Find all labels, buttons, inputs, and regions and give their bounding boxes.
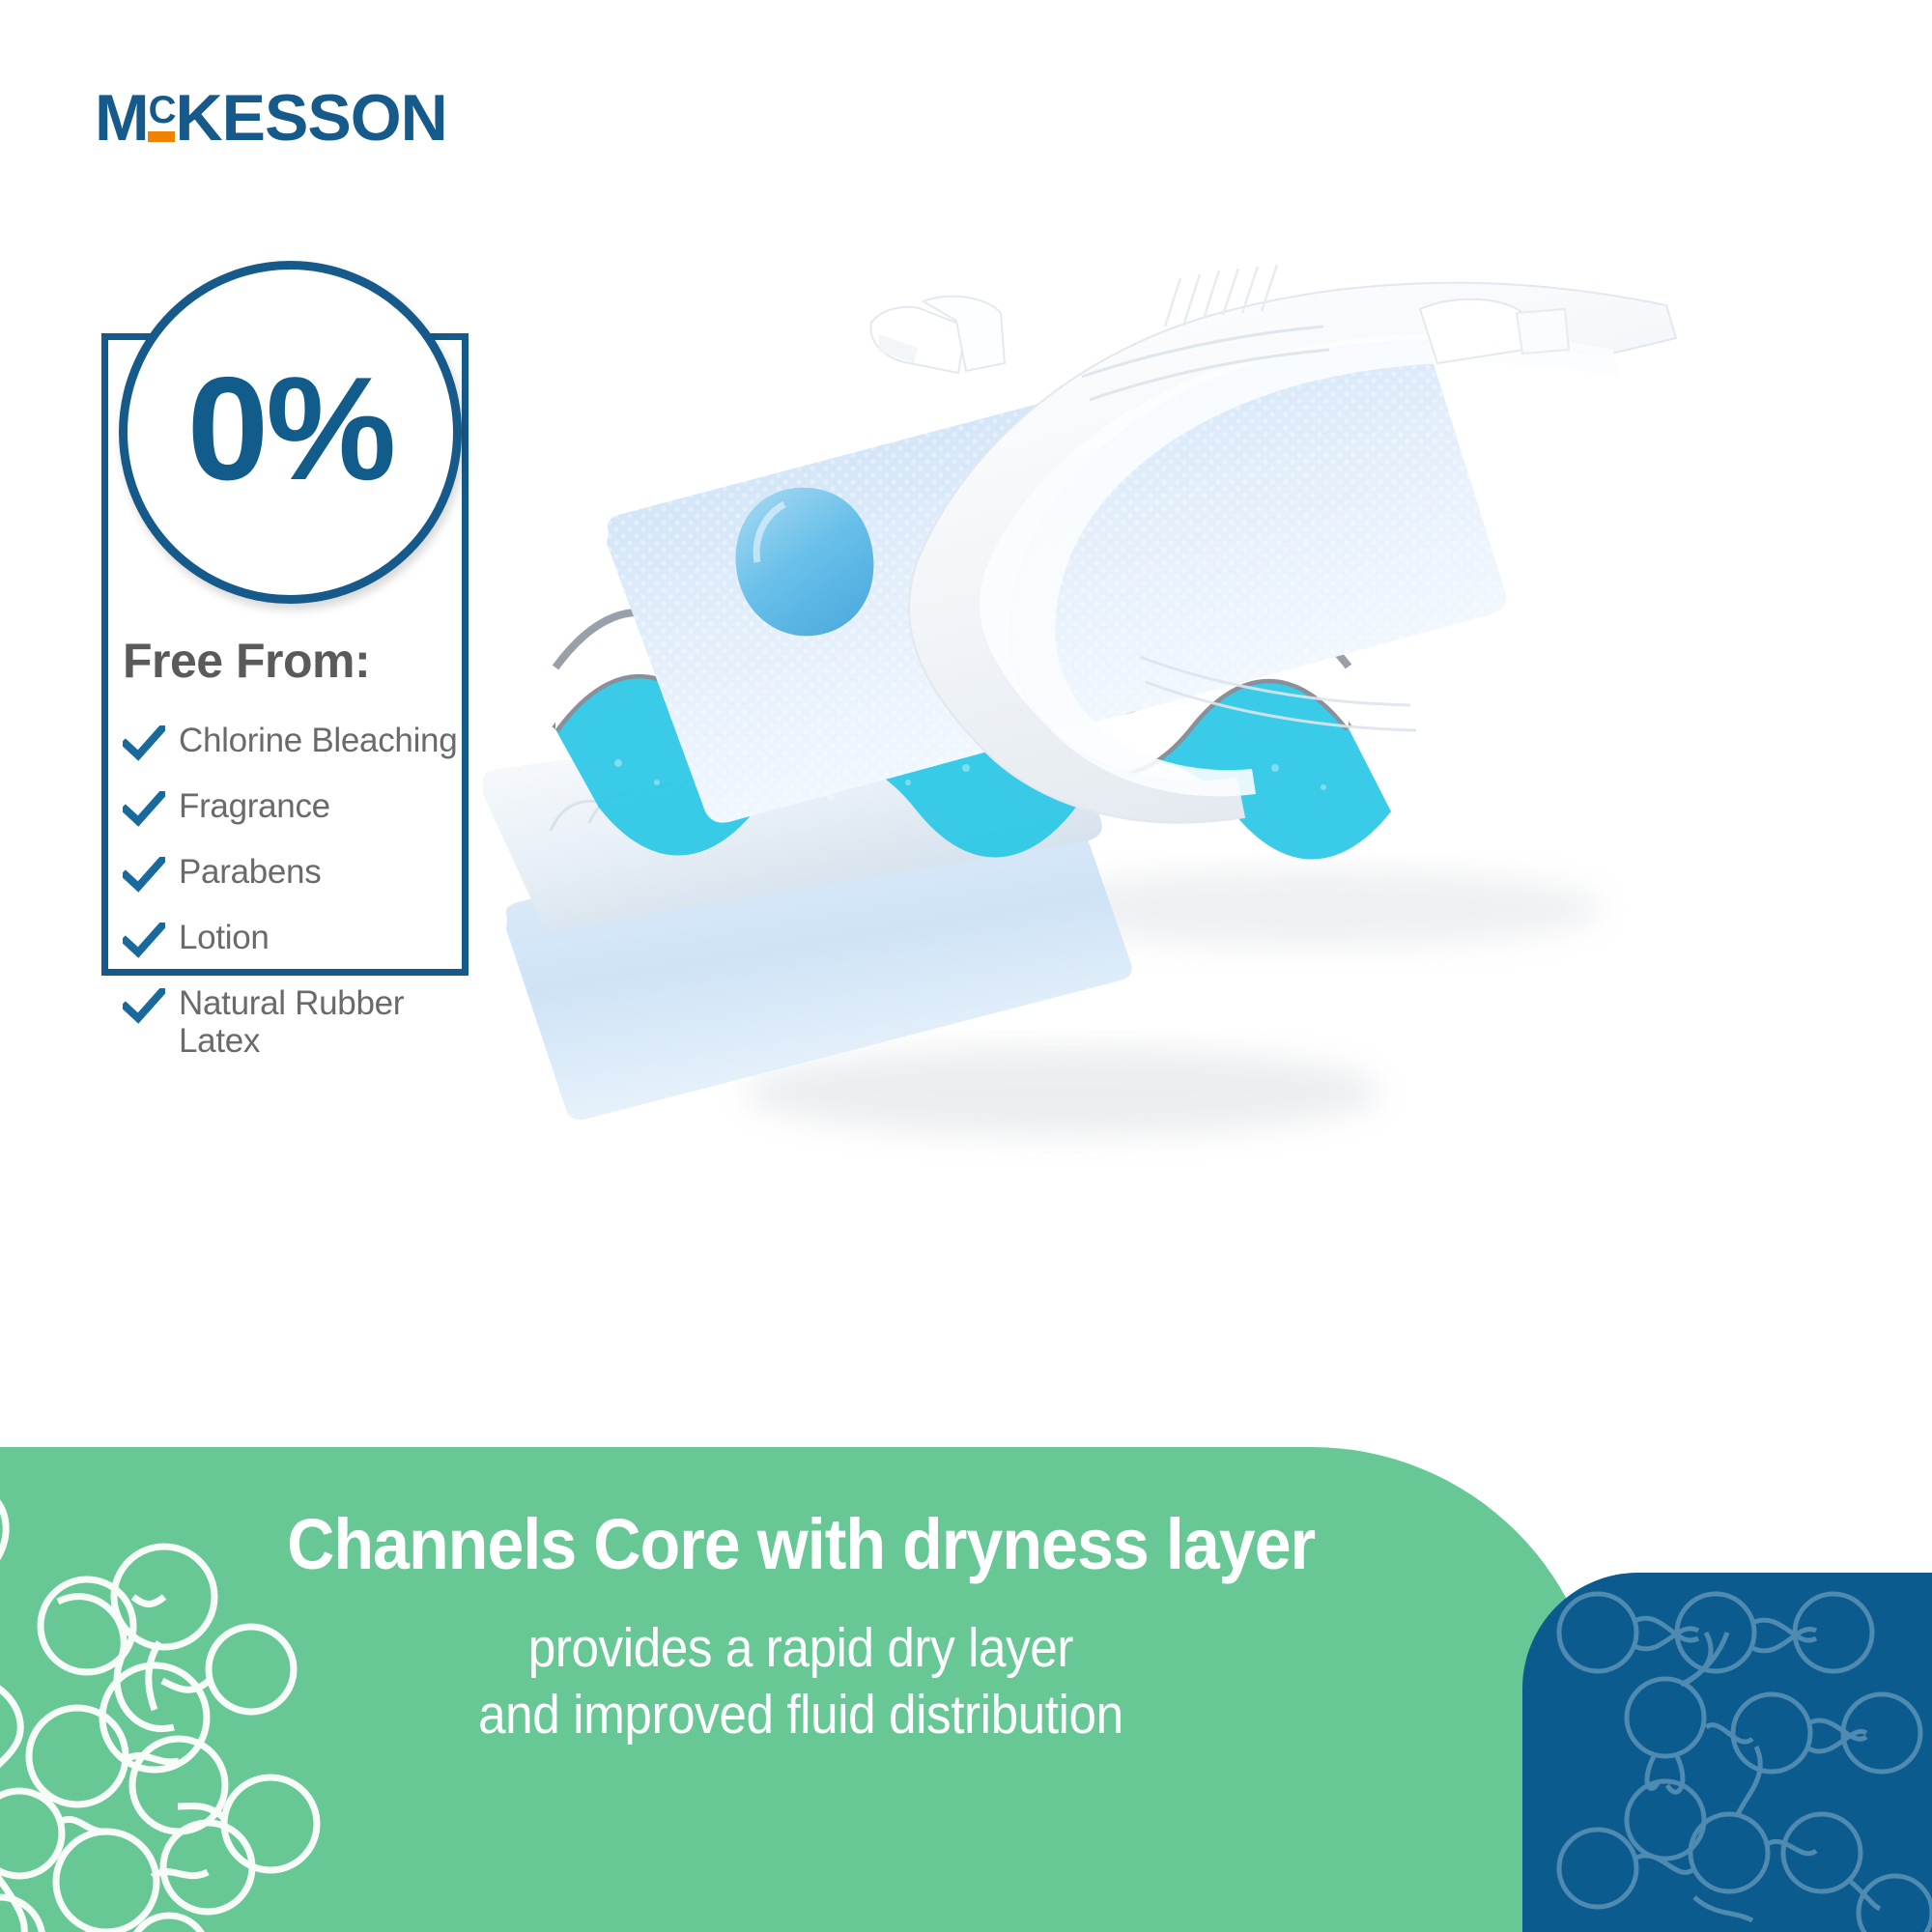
- list-item: Parabens: [123, 853, 469, 894]
- product-hero-image: [464, 241, 1884, 1188]
- free-from-claim-panel: 0% Free From: Chlorine Bleaching Fragran…: [101, 261, 469, 976]
- free-from-list-container: Free From: Chlorine Bleaching Fragrance …: [101, 633, 469, 1085]
- list-item-label: Lotion: [179, 919, 270, 956]
- list-item-label: Chlorine Bleaching: [179, 722, 457, 759]
- list-item: Lotion: [123, 919, 469, 959]
- mckesson-logo: MCKESSON: [95, 85, 447, 151]
- organic-blob-pattern: [0, 1447, 502, 1932]
- list-item-label: Natural Rubber Latex: [179, 984, 469, 1060]
- check-icon: [123, 722, 179, 762]
- zero-percent-badge: 0%: [119, 261, 462, 604]
- logo-text-part1: M: [95, 81, 149, 155]
- list-item: Natural Rubber Latex: [123, 984, 469, 1060]
- molecule-dumbbell-pattern: [1522, 1573, 1932, 1932]
- logo-text-part2: KESSON: [176, 81, 447, 155]
- check-icon: [123, 853, 179, 894]
- list-item-label: Fragrance: [179, 787, 330, 825]
- list-item-label: Parabens: [179, 853, 321, 891]
- check-icon: [123, 984, 179, 1025]
- blue-corner-panel: [1522, 1573, 1932, 1932]
- logo-superscript-c: C: [149, 91, 176, 129]
- check-icon: [123, 919, 179, 959]
- list-item: Fragrance: [123, 787, 469, 828]
- free-from-title: Free From:: [123, 633, 469, 689]
- product-illustration: [464, 241, 1884, 1188]
- feature-banner: [0, 1447, 1602, 1932]
- check-icon: [123, 787, 179, 828]
- zero-percent-text: 0%: [187, 355, 394, 502]
- list-item: Chlorine Bleaching: [123, 722, 469, 762]
